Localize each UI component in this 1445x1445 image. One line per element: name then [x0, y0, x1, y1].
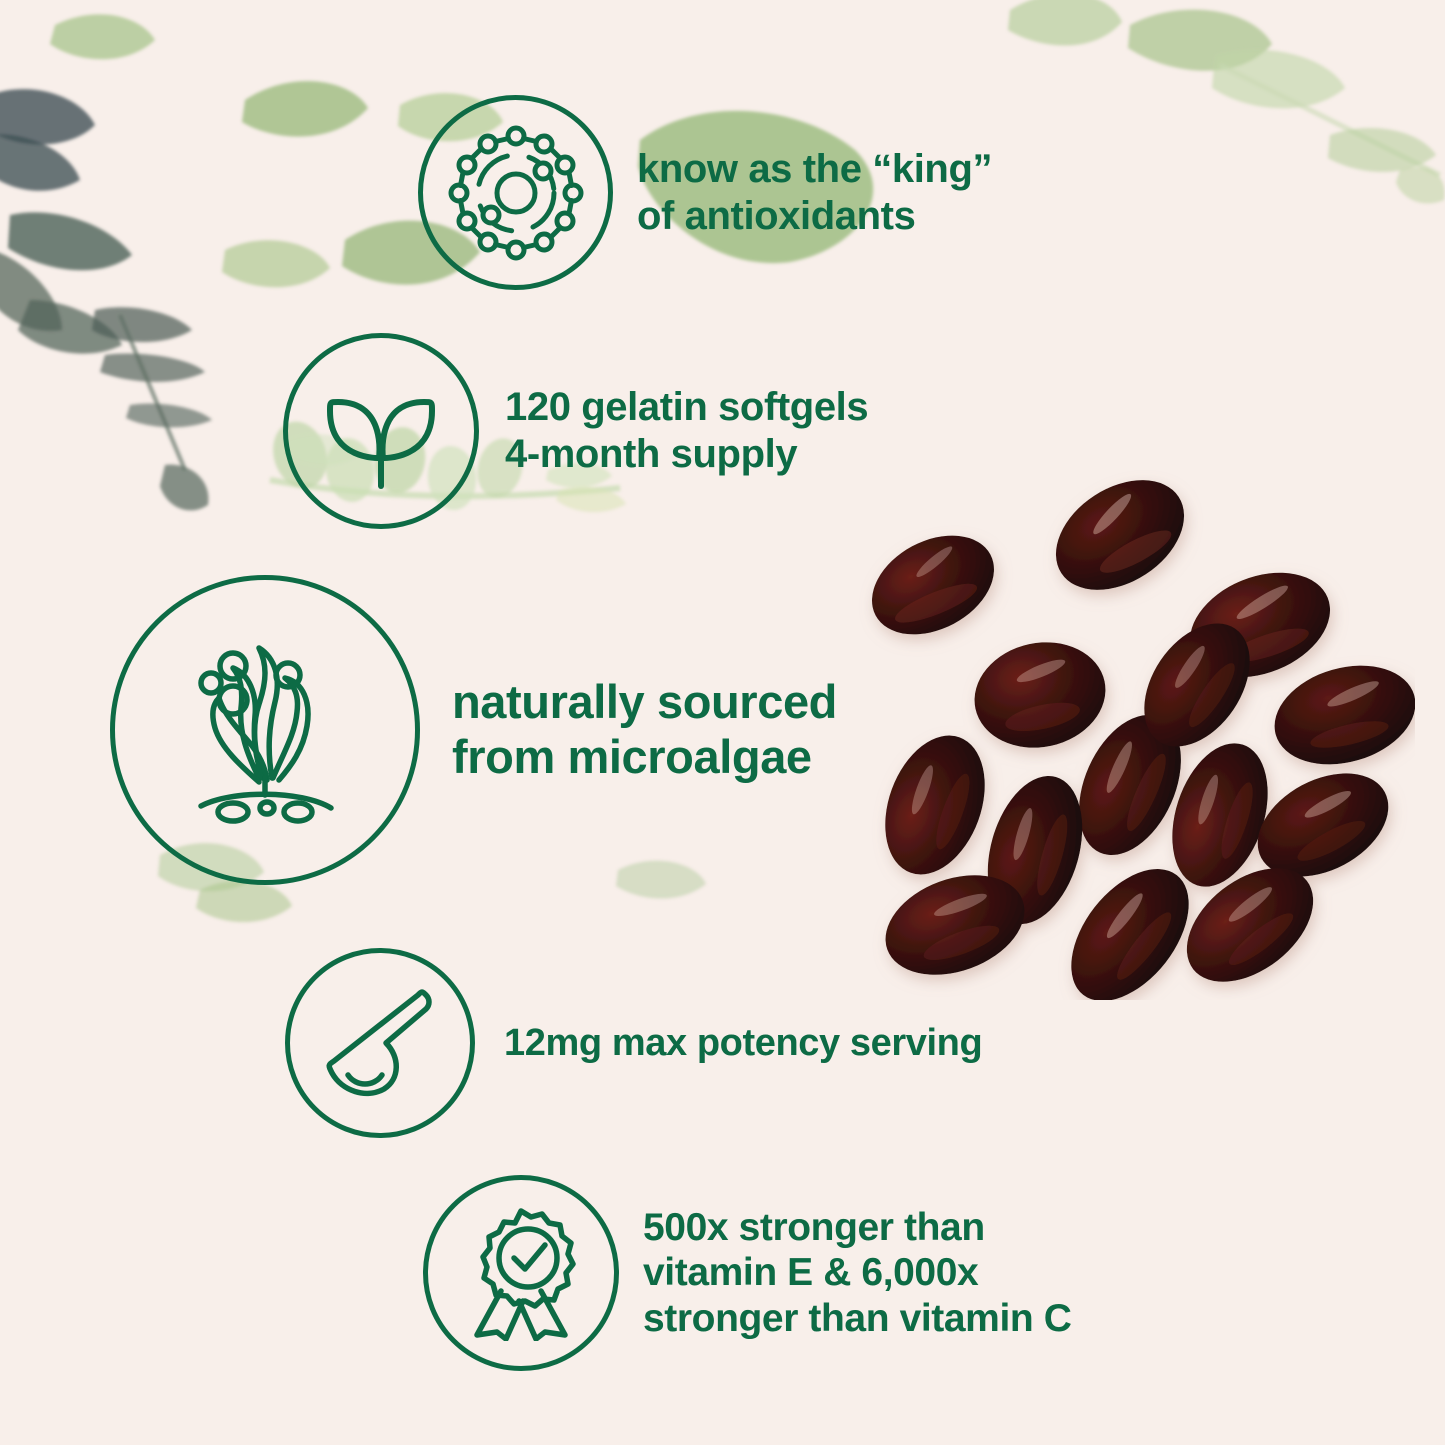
- seaweed-microalgae-icon: [155, 620, 375, 840]
- feature-label: 12mg max potency serving: [504, 1021, 982, 1065]
- award-ribbon-check-icon-circle: [423, 1175, 619, 1371]
- feature-label: 500x stronger than vitamin E & 6,000x st…: [643, 1205, 1072, 1342]
- spoon-icon: [314, 977, 446, 1109]
- sprout-leaf-icon: [316, 366, 446, 496]
- astaxanthin-softgel-capsules-photo: [845, 470, 1415, 1000]
- feature-row-antioxidant: know as the “king” of antioxidants: [418, 95, 992, 290]
- feature-label: naturally sourced from microalgae: [452, 675, 837, 785]
- sprout-leaf-icon-circle: [283, 333, 479, 529]
- feature-label: 120 gelatin softgels 4-month supply: [505, 384, 868, 478]
- feature-label: know as the “king” of antioxidants: [637, 146, 992, 240]
- feature-row-potency-comparison: 500x stronger than vitamin E & 6,000x st…: [423, 1175, 1072, 1371]
- spoon-icon-circle: [285, 948, 475, 1138]
- feature-row-softgel-count: 120 gelatin softgels 4-month supply: [283, 333, 868, 529]
- feature-row-microalgae: naturally sourced from microalgae: [110, 575, 837, 885]
- product-feature-infographic: know as the “king” of antioxidants 120 g…: [0, 0, 1445, 1445]
- seaweed-microalgae-icon-circle: [110, 575, 420, 885]
- antioxidant-molecule-icon: [446, 123, 586, 263]
- capsule-cluster: [845, 470, 1415, 1000]
- antioxidant-molecule-icon-circle: [418, 95, 613, 290]
- award-ribbon-check-icon: [453, 1205, 589, 1341]
